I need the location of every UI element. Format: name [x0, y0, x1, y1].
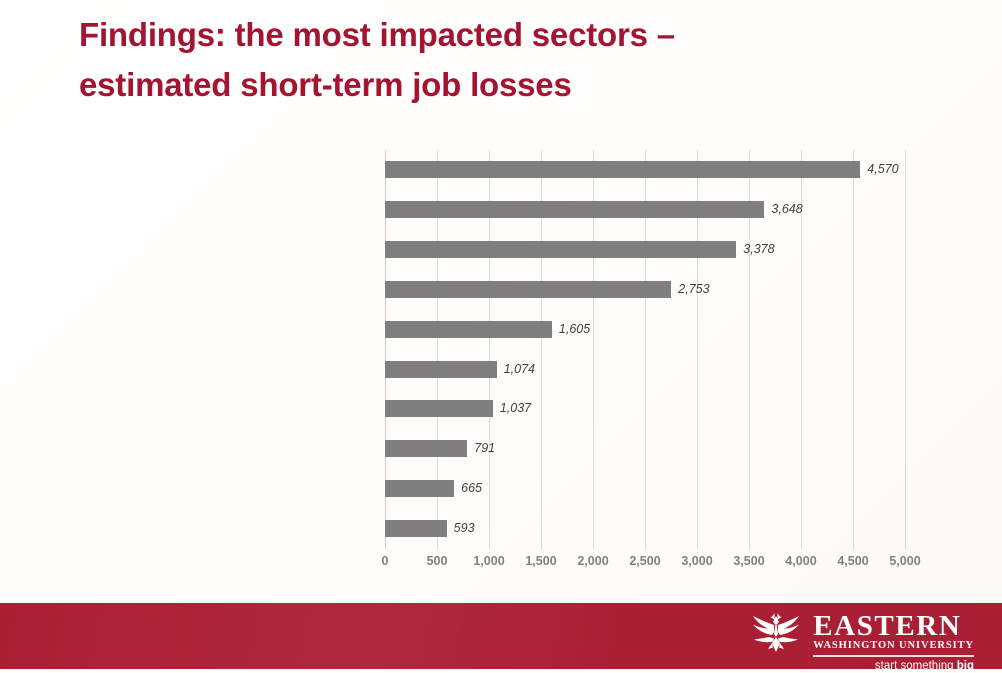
- logo-subtitle: WASHINGTON UNIVERSITY: [813, 640, 974, 652]
- chart-bar[interactable]: [385, 400, 493, 417]
- chart-bar-row: Other services, except public administra…: [385, 429, 905, 469]
- chart-x-tick-label: 5,000: [889, 554, 920, 568]
- bar-chart: Accommodation & food services4,570Retail…: [0, 140, 1002, 580]
- chart-bar-value-label: 2,753: [678, 280, 709, 298]
- chart-bar-row: Accommodation & food services4,570: [385, 150, 905, 190]
- chart-bar-value-label: 4,570: [867, 160, 898, 178]
- chart-bar[interactable]: [385, 161, 860, 178]
- chart-x-tick-label: 4,000: [785, 554, 816, 568]
- chart-bar[interactable]: [385, 321, 552, 338]
- chart-bar[interactable]: [385, 241, 736, 258]
- chart-plot-area: Accommodation & food services4,570Retail…: [385, 150, 905, 549]
- logo-wordmark: EASTERN: [813, 611, 974, 641]
- chart-bar-row: Healthcare & social assistance2,753: [385, 270, 905, 310]
- page-title-line-1: Findings: the most impacted sectors –: [79, 10, 939, 60]
- chart-bar[interactable]: [385, 440, 467, 457]
- footer-bar: EASTERN WASHINGTON UNIVERSITY start some…: [0, 603, 1002, 669]
- chart-bar-value-label: 3,378: [743, 240, 774, 258]
- chart-bar-row: Professional & technical services593: [385, 509, 905, 549]
- chart-bar-value-label: 3,648: [771, 200, 802, 218]
- chart-x-tick-label: 2,500: [629, 554, 660, 568]
- logo-tagline: start something big: [813, 659, 974, 673]
- chart-bar-value-label: 665: [461, 479, 482, 497]
- chart-bar[interactable]: [385, 281, 671, 298]
- chart-x-tick-label: 3,000: [681, 554, 712, 568]
- chart-x-tick-label: 1,500: [525, 554, 556, 568]
- logo-text-block: EASTERN WASHINGTON UNIVERSITY start some…: [813, 609, 974, 673]
- chart-bar-value-label: 1,605: [559, 320, 590, 338]
- chart-bar[interactable]: [385, 480, 454, 497]
- chart-bar-row: Arts, entertainment & recreation1,605: [385, 310, 905, 350]
- chart-bar[interactable]: [385, 520, 447, 537]
- slide: Findings: the most impacted sectors – es…: [0, 0, 1002, 669]
- page-title-line-2: estimated short-term job losses: [79, 60, 939, 110]
- eagle-icon: [745, 612, 807, 654]
- logo-tagline-emphasis: big: [957, 660, 974, 672]
- chart-bar-row: Construction3,378: [385, 230, 905, 270]
- chart-gridline: [905, 150, 906, 549]
- chart-bar-row: Manufacturing1,074: [385, 350, 905, 390]
- logo-tagline-prefix: start something: [875, 660, 957, 672]
- chart-bar-value-label: 791: [474, 439, 495, 457]
- chart-bar-row: Educational services665: [385, 469, 905, 509]
- chart-x-tick-label: 2,000: [577, 554, 608, 568]
- chart-bar-row: Administrative & waste services1,037: [385, 389, 905, 429]
- chart-bar[interactable]: [385, 201, 764, 218]
- chart-bar-value-label: 1,074: [504, 360, 535, 378]
- chart-bar[interactable]: [385, 361, 497, 378]
- chart-bar-row: Retail trade3,648: [385, 190, 905, 230]
- page-title: Findings: the most impacted sectors – es…: [79, 10, 939, 110]
- logo-divider: [813, 655, 974, 657]
- chart-x-tick-label: 4,500: [837, 554, 868, 568]
- eastern-washington-university-logo: EASTERN WASHINGTON UNIVERSITY start some…: [745, 609, 974, 665]
- chart-x-tick-label: 3,500: [733, 554, 764, 568]
- chart-x-tick-label: 1,000: [473, 554, 504, 568]
- chart-bar-value-label: 1,037: [500, 399, 531, 417]
- chart-x-tick-label: 500: [427, 554, 448, 568]
- chart-bar-value-label: 593: [454, 519, 475, 537]
- chart-x-tick-label: 0: [382, 554, 389, 568]
